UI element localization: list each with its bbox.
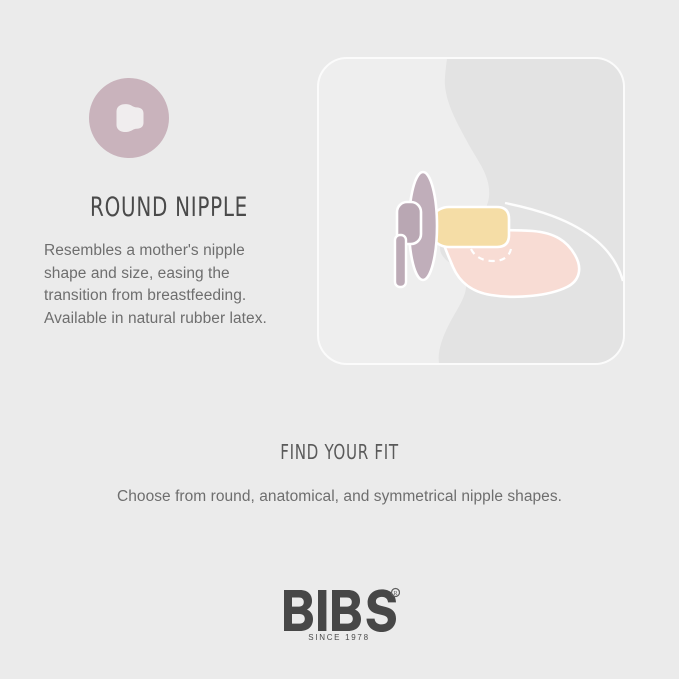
feature-column: ROUND NIPPLE Resembles a mother's nipple… [44,78,294,330]
brand-logo: R SINCE 1978 [0,586,679,647]
fit-section: FIND YOUR FIT Choose from round, anatomi… [0,440,679,506]
feature-title: ROUND NIPPLE [67,192,272,223]
round-nipple-shape-icon [89,78,169,158]
top-section: ROUND NIPPLE Resembles a mother's nipple… [0,0,679,400]
fit-subtitle: Choose from round, anatomical, and symme… [0,488,679,506]
brand-tagline: SINCE 1978 [308,633,369,642]
registered-trademark-icon: R [391,589,399,598]
fit-title: FIND YOUR FIT [54,440,624,464]
feature-description: Resembles a mother's nipple shape and si… [44,240,284,330]
illustration-panel [317,57,625,365]
brand-wordmark [284,589,396,632]
heart-icon [293,598,301,605]
svg-text:R: R [393,591,397,597]
